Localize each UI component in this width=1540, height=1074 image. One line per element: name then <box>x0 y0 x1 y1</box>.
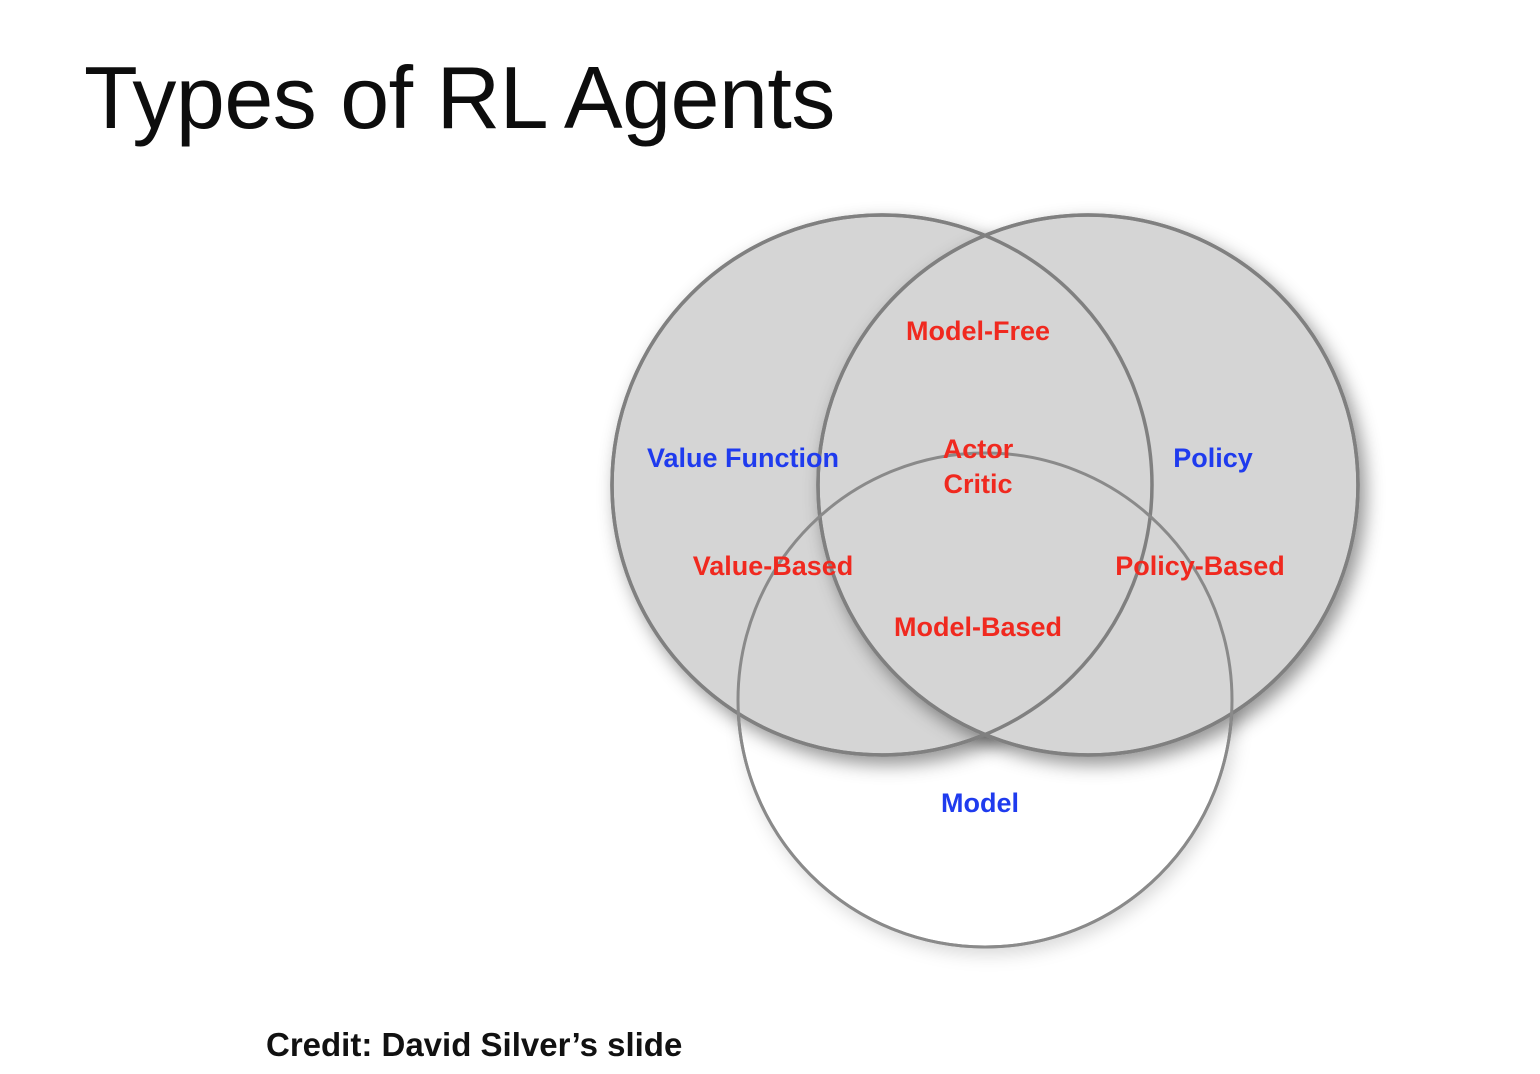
venn-diagram: Value Function Policy Model Model-Free A… <box>560 215 1420 1005</box>
page-title: Types of RL Agents <box>84 52 835 144</box>
venn-label-actor: Actor <box>943 434 1014 464</box>
venn-circle-policy[interactable] <box>818 215 1358 755</box>
venn-label-policy: Policy <box>1173 443 1253 473</box>
venn-label-value-function: Value Function <box>647 443 839 473</box>
venn-label-critic: Critic <box>943 469 1012 499</box>
slide-canvas: Types of RL Agents Valu <box>0 0 1540 1074</box>
venn-label-model-free: Model-Free <box>906 316 1050 346</box>
venn-label-model: Model <box>941 788 1019 818</box>
venn-label-model-based: Model-Based <box>894 612 1062 642</box>
venn-diagram-svg: Value Function Policy Model Model-Free A… <box>560 215 1420 1005</box>
venn-label-policy-based: Policy-Based <box>1115 551 1285 581</box>
credit-text: Credit: David Silver’s slide <box>266 1026 682 1064</box>
venn-label-value-based: Value-Based <box>693 551 854 581</box>
